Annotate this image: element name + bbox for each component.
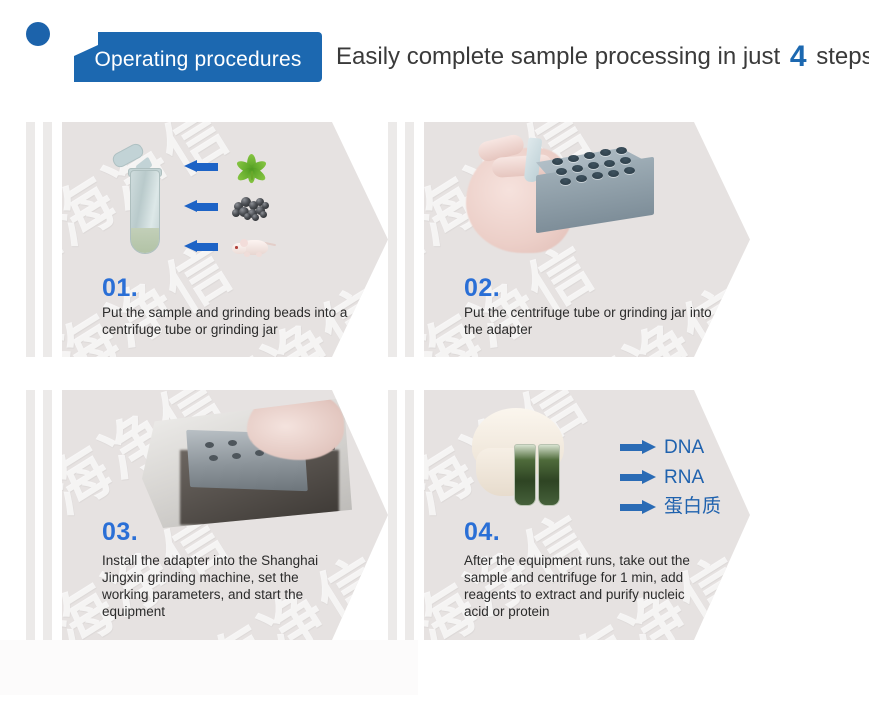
step-card-01: 上海净信 上海净信 上海净信 [26,122,388,357]
step-panel-03: 上海净信 上海净信 上海净信 03. Install the adapter i… [62,390,388,640]
step-panel-04: 上海净信 上海净信 上海净信 DNA RNA 蛋白质 04 [424,390,750,640]
arrow-left-icon-beads [184,200,218,213]
arrow-left-icon-leaf [184,160,218,173]
arrow-left-icon-mouse [184,240,218,253]
accent-bar-left [26,390,35,640]
step-count: 4 [787,40,810,73]
step-number-04: 04. [464,518,500,547]
illustration-step-04 [472,408,592,513]
mouse-icon [232,234,272,258]
step-text-04: After the equipment runs, take out the s… [464,552,709,620]
bottom-filler-block [0,640,418,695]
circle-dot-icon [26,22,50,46]
accent-bar-left [388,122,397,357]
output-label-dna: DNA [664,438,704,457]
accent-bar-right [43,122,52,357]
step-number-02: 02. [464,274,500,303]
illustration-step-02 [466,136,681,261]
section-banner-label: Operating procedures [74,32,322,82]
accent-bar-left [388,390,397,640]
infographic-page: Operating procedures Easily complete sam… [0,0,869,717]
accent-bar-left [26,122,35,357]
page-title: Easily complete sample processing in jus… [336,36,869,78]
illustration-step-01 [62,122,362,272]
grinding-beads-icon [232,194,270,220]
page-header: Operating procedures Easily complete sam… [0,0,869,100]
illustration-step-03 [142,398,352,528]
hand-icon [247,398,344,460]
step-card-03: 上海净信 上海净信 上海净信 03. Install the adapter i… [26,390,388,640]
output-label-protein: 蛋白质 [664,497,721,516]
step-text-01: Put the sample and grinding beads into a… [102,304,352,338]
sample-vial [538,444,560,506]
page-title-after: steps: [816,43,869,70]
step-text-02: Put the centrifuge tube or grinding jar … [464,304,714,338]
output-label-rna: RNA [664,468,704,487]
accent-bar-right [43,390,52,640]
page-title-before: Easily complete sample processing in jus… [336,43,780,70]
sample-vial [514,444,536,506]
arrow-right-icon-protein [620,500,656,514]
arrow-right-icon-dna [620,440,656,454]
section-banner: Operating procedures [74,32,322,82]
accent-bar-right [405,122,414,357]
step-panel-02: 上海净信 上海净信 上海净信 [424,122,750,357]
step-number-03: 03. [102,518,138,547]
step-card-04: 上海净信 上海净信 上海净信 DNA RNA 蛋白质 04 [388,390,750,640]
step-number-01: 01. [102,274,138,303]
arrow-right-icon-rna [620,470,656,484]
step-text-03: Install the adapter into the Shanghai Ji… [102,552,342,620]
centrifuge-tube-icon [120,146,164,254]
accent-bar-right [405,390,414,640]
leaf-icon [234,150,268,180]
step-card-02: 上海净信 上海净信 上海净信 [388,122,750,357]
step-panel-01: 上海净信 上海净信 上海净信 [62,122,388,357]
